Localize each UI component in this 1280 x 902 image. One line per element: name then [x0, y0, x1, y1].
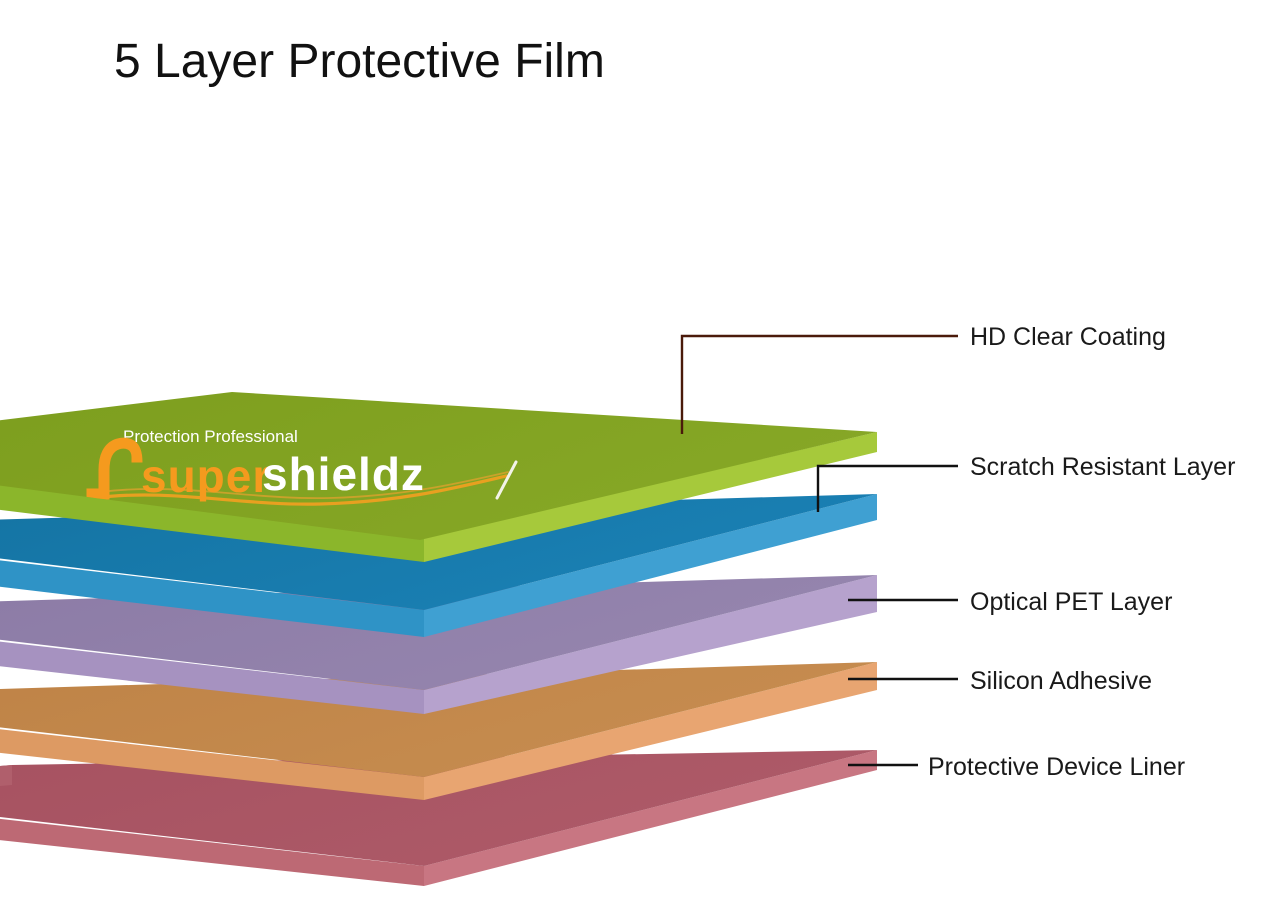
callout-optical-pet-layer[interactable]: Optical PET Layer: [848, 588, 1172, 616]
layer-diagram-page: 5 Layer Protective Film: [0, 0, 1280, 902]
brand-name-part2: shieldz: [262, 448, 425, 500]
callout-silicon-adhesive[interactable]: Silicon Adhesive: [848, 667, 1152, 695]
callout-label-scratch-resistant-layer: Scratch Resistant Layer: [970, 453, 1235, 481]
leader-line-hd-clear-coating: [682, 336, 958, 434]
brand-name-part1: super: [141, 450, 271, 502]
callout-label-protective-device-liner: Protective Device Liner: [928, 753, 1185, 781]
callout-label-hd-clear-coating: HD Clear Coating: [970, 323, 1166, 351]
brand-tagline: Protection Professional: [123, 427, 298, 446]
callout-protective-device-liner[interactable]: Protective Device Liner: [848, 753, 1185, 781]
callout-scratch-resistant-layer[interactable]: Scratch Resistant Layer: [818, 453, 1235, 512]
exploded-layer-diagram: Protection Professional super shieldz HD…: [0, 0, 1280, 902]
callout-label-optical-pet-layer: Optical PET Layer: [970, 588, 1172, 616]
callout-hd-clear-coating[interactable]: HD Clear Coating: [682, 323, 1166, 434]
callout-label-silicon-adhesive: Silicon Adhesive: [970, 667, 1152, 695]
